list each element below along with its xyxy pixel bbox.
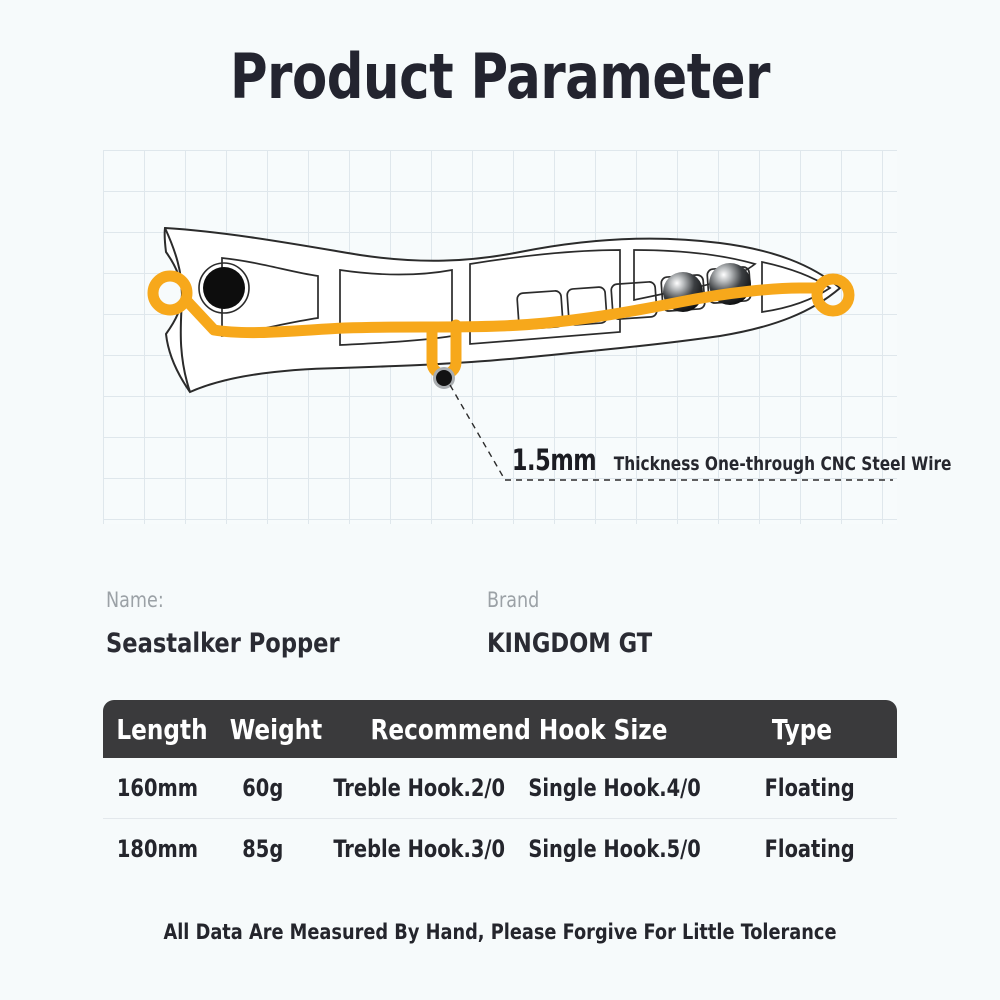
footer-note: All Data Are Measured By Hand, Please Fo…: [30, 920, 970, 944]
table-row: 180mm 85g Treble Hook.3/0 Single Hook.5/…: [103, 819, 897, 879]
product-name-label: Name:: [106, 588, 340, 612]
thickness-value: 1.5mm: [512, 443, 596, 477]
cell-type: Floating: [730, 774, 888, 802]
product-name-value: Seastalker Popper: [106, 628, 340, 659]
spec-table: Length Weight Recommend Hook Size Type 1…: [103, 700, 897, 879]
thickness-annotation: 1.5mm Thickness One-through CNC Steel Wi…: [505, 443, 970, 477]
cell-treble-hook: Treble Hook.3/0: [334, 835, 506, 863]
column-header-length: Length: [108, 713, 217, 746]
cell-type: Floating: [730, 835, 888, 863]
column-header-hook-size: Recommend Hook Size: [346, 713, 692, 746]
thickness-description: Thickness One-through CNC Steel Wire: [614, 453, 952, 475]
product-name-block: Name: Seastalker Popper: [106, 588, 357, 659]
cell-hook-size: Treble Hook.3/0 Single Hook.5/0: [334, 835, 701, 863]
cell-weight: 60g: [217, 774, 308, 802]
cell-treble-hook: Treble Hook.2/0: [334, 774, 506, 802]
product-brand-block: Brand KINGDOM GT: [487, 588, 665, 659]
cell-hook-size: Treble Hook.2/0 Single Hook.4/0: [334, 774, 701, 802]
cell-single-hook: Single Hook.5/0: [529, 835, 701, 863]
column-header-weight: Weight: [225, 713, 326, 746]
page-title: Product Parameter: [40, 40, 960, 113]
column-header-type: Type: [715, 713, 890, 746]
product-brand-label: Brand: [487, 588, 652, 612]
cell-length: 180mm: [108, 835, 206, 863]
product-brand-value: KINGDOM GT: [487, 628, 652, 659]
cell-length: 160mm: [108, 774, 206, 802]
cell-weight: 85g: [217, 835, 308, 863]
cell-single-hook: Single Hook.4/0: [529, 774, 701, 802]
spec-table-header-row: Length Weight Recommend Hook Size Type: [103, 700, 897, 758]
table-row: 160mm 60g Treble Hook.2/0 Single Hook.4/…: [103, 758, 897, 819]
